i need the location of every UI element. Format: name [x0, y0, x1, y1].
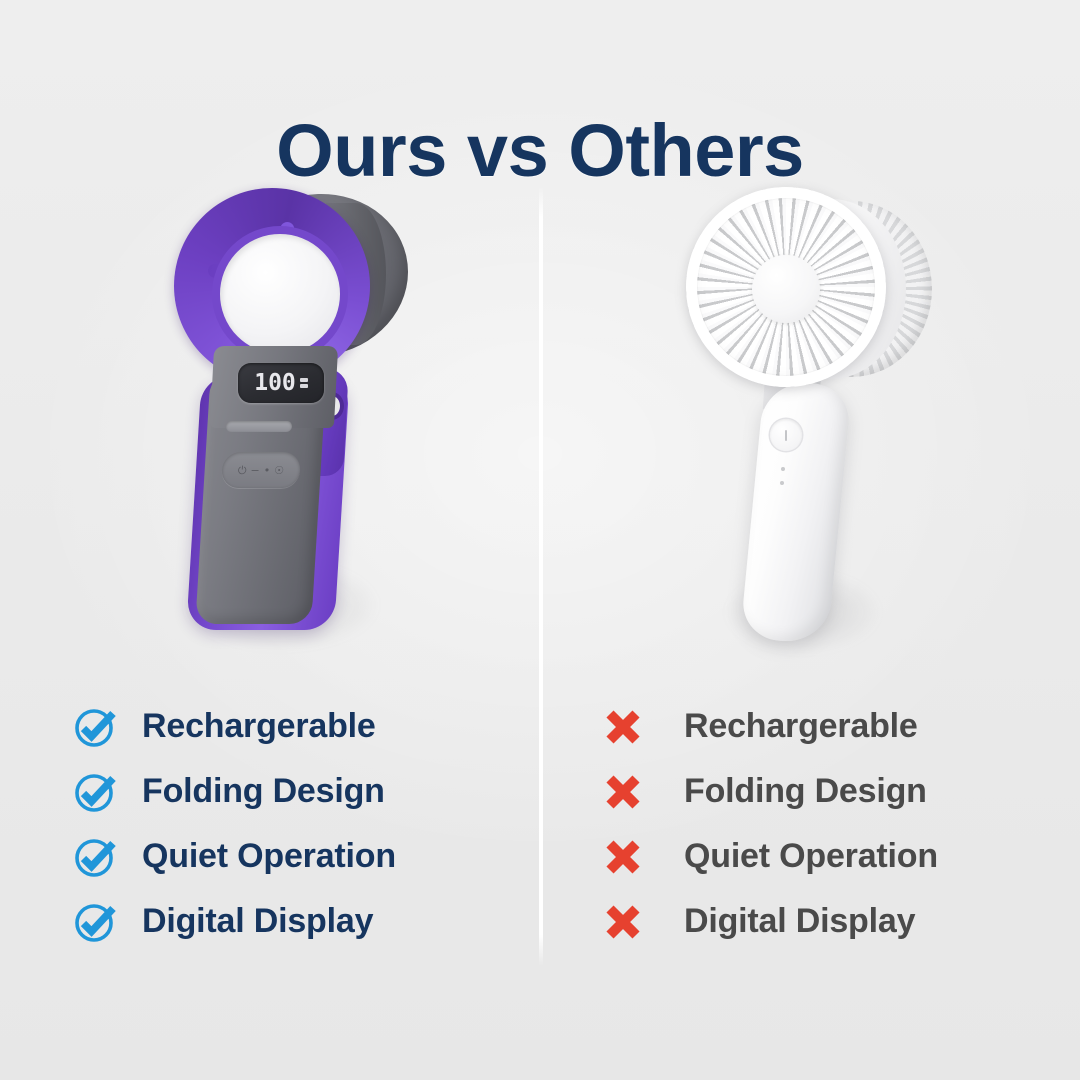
- cross-x-icon: [600, 899, 646, 945]
- feature-label: Folding Design: [142, 772, 385, 811]
- feature-row: Quiet Operation: [72, 824, 542, 889]
- speed-icon: −: [250, 465, 260, 476]
- circle-check-icon: [72, 704, 118, 750]
- product-image-ours: 100 ⏻ − • ☉: [150, 170, 530, 650]
- circle-check-icon: [72, 834, 118, 880]
- digital-display: 100: [238, 363, 324, 403]
- display-value: 100: [254, 372, 296, 395]
- fan-center-hub: [212, 226, 348, 362]
- page-title: Ours vs Others: [0, 108, 1080, 193]
- led-indicator-dot: [780, 481, 784, 485]
- led-indicator-dot: [781, 467, 785, 471]
- fan-handle-vent-slot: [226, 421, 293, 432]
- circle-check-icon: [72, 769, 118, 815]
- cross-x-icon: [600, 834, 646, 880]
- cross-x-icon: [600, 704, 646, 750]
- cross-x-icon: [600, 769, 646, 815]
- feature-row: Digital Display: [72, 889, 542, 954]
- fan-center-hub: [752, 255, 820, 323]
- feature-label: Digital Display: [684, 902, 915, 941]
- feature-label: Quiet Operation: [142, 837, 396, 876]
- feature-list-others: Rechargerable Folding Design Quiet Opera…: [600, 694, 1050, 954]
- feature-row: Rechargerable: [600, 694, 1050, 759]
- feature-label: Rechargerable: [684, 707, 918, 746]
- fan-control-pad: ⏻ − • ☉: [221, 452, 301, 488]
- product-image-others: [660, 175, 1020, 645]
- feature-row: Quiet Operation: [600, 824, 1050, 889]
- feature-label: Quiet Operation: [684, 837, 938, 876]
- circle-check-icon: [72, 899, 118, 945]
- battery-full-icon: [300, 378, 308, 389]
- feature-row: Digital Display: [600, 889, 1050, 954]
- comparison-infographic: Ours vs Others 100 ⏻ − • ☉: [0, 0, 1080, 1080]
- power-button-icon: [770, 419, 802, 451]
- feature-list-ours: Rechargerable Folding Design Quiet Opera…: [72, 694, 542, 954]
- fan-handle: [740, 382, 853, 642]
- feature-row: Rechargerable: [72, 694, 542, 759]
- light-icon: ☉: [274, 465, 285, 476]
- feature-row: Folding Design: [600, 759, 1050, 824]
- mode-icon: •: [263, 465, 270, 476]
- feature-label: Digital Display: [142, 902, 373, 941]
- feature-row: Folding Design: [72, 759, 542, 824]
- feature-label: Folding Design: [684, 772, 927, 811]
- power-icon: ⏻: [238, 465, 247, 476]
- feature-label: Rechargerable: [142, 707, 376, 746]
